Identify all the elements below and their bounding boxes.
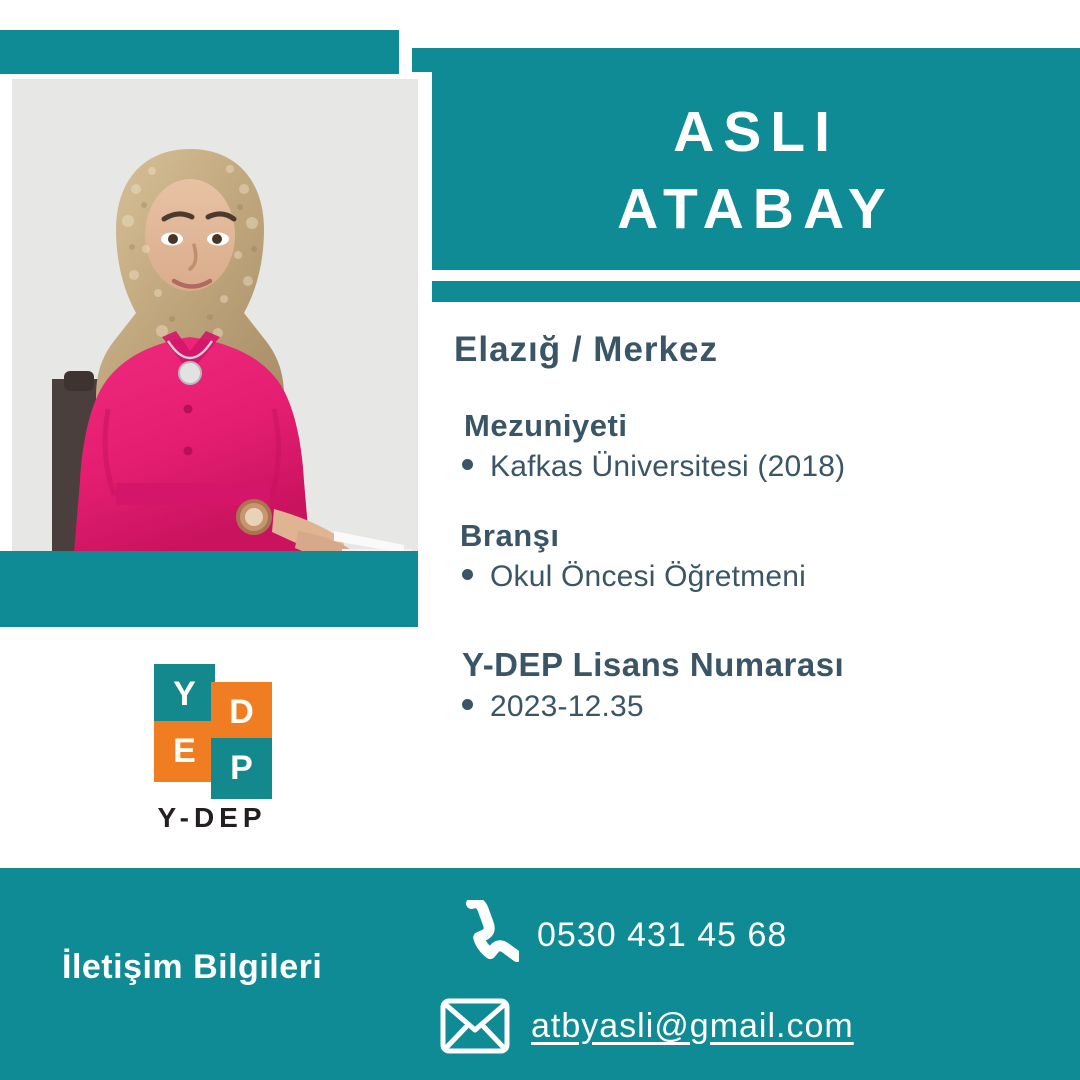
graduation-value: Kafkas Üniversitesi (2018) [490, 450, 845, 484]
section-title-graduation: Mezuniyeti [464, 408, 1080, 444]
portrait-illustration [12, 79, 418, 552]
bullet-dot-icon [462, 459, 473, 470]
contact-email-row[interactable]: atbyasli@gmail.com [437, 995, 854, 1057]
license-value: 2023-12.35 [490, 690, 644, 724]
envelope-icon [437, 995, 513, 1057]
photo-underband-accent [0, 551, 418, 627]
header-step-accent [412, 48, 1080, 72]
list-item: Okul Öncesi Öğretmeni [462, 560, 1080, 594]
spacer [450, 628, 1080, 646]
logo-wordmark: Y-DEP [112, 802, 312, 834]
top-left-accent-band [0, 30, 399, 74]
header-underbar-accent [432, 281, 1080, 302]
location-text: Elazığ / Merkez [454, 330, 1080, 370]
business-card: ASLI ATABAY [0, 0, 1080, 1080]
logo-tile-y: Y [154, 664, 215, 725]
branch-value: Okul Öncesi Öğretmeni [490, 560, 806, 594]
contact-phone-row[interactable]: 0530 431 45 68 [455, 898, 787, 972]
portrait-photo [12, 79, 418, 552]
contact-footer-label: İletişim Bilgileri [62, 948, 322, 987]
list-item: Kafkas Üniversitesi (2018) [462, 450, 1080, 484]
name-header-block: ASLI ATABAY [432, 72, 1080, 270]
list-item: 2023-12.35 [462, 690, 1080, 724]
envelope-icon-glyph [439, 997, 511, 1055]
phone-icon-glyph [457, 900, 519, 970]
logo-tile-e: E [154, 721, 215, 782]
phone-icon [455, 898, 521, 972]
logo-tile-d: D [211, 682, 272, 743]
info-column: Elazığ / Merkez Mezuniyeti Kafkas Üniver… [450, 330, 1080, 758]
bullet-dot-icon [462, 699, 473, 710]
ydep-logo: Y D E P Y-DEP [112, 664, 312, 824]
section-title-branch: Branşı [460, 518, 1080, 554]
email-address[interactable]: atbyasli@gmail.com [531, 1007, 854, 1046]
name-line-last: ATABAY [617, 171, 895, 248]
bullet-dot-icon [462, 569, 473, 580]
section-title-license: Y-DEP Lisans Numarası [462, 646, 1080, 684]
logo-tile-p: P [211, 738, 272, 799]
phone-number[interactable]: 0530 431 45 68 [537, 916, 787, 955]
name-line-first: ASLI [673, 94, 839, 171]
ydep-logo-tiles: Y D E P [137, 664, 287, 786]
